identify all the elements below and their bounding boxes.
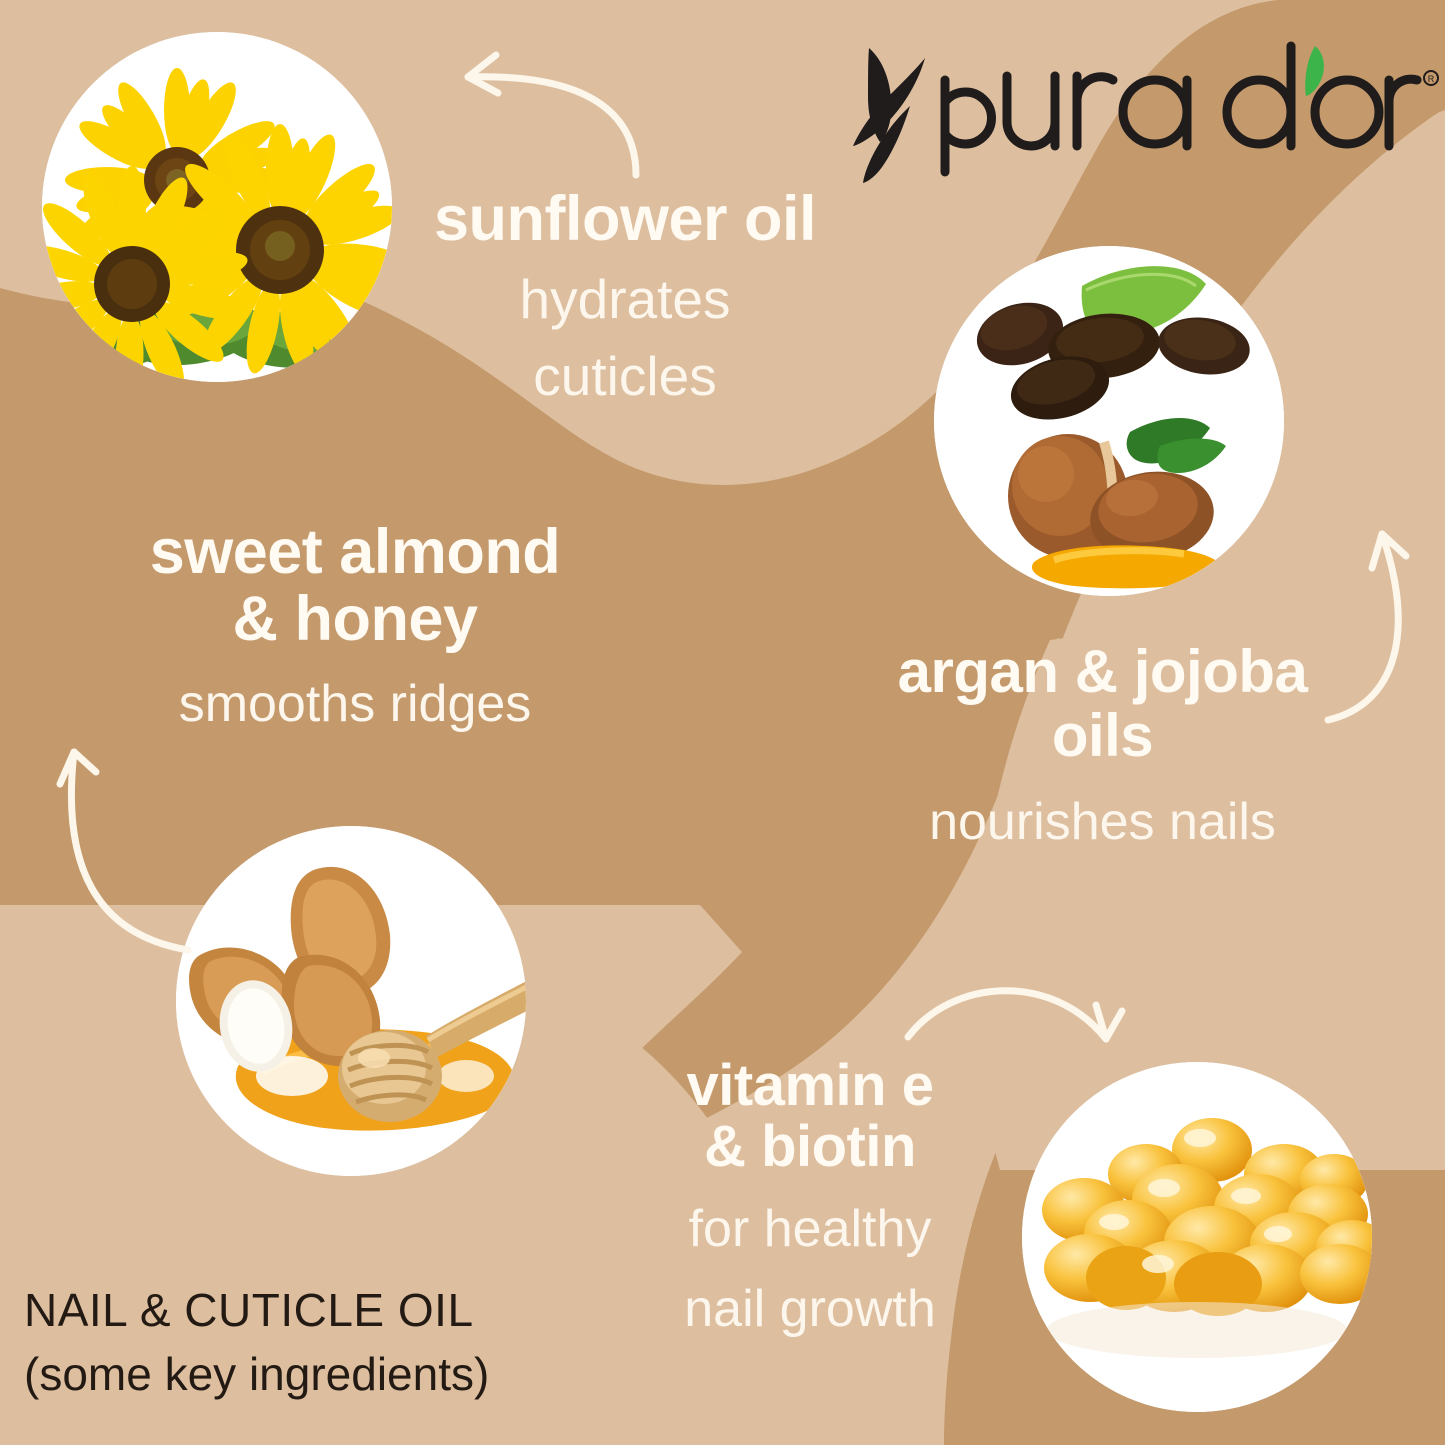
sunflower-title: sunflower oil xyxy=(330,186,920,253)
arrow-to-sunflower xyxy=(440,45,660,185)
almond-honey-benefit: smooths ridges xyxy=(55,675,655,733)
caption-line-1: NAIL & CUTICLE OIL xyxy=(24,1283,644,1337)
almond-honey-title-line-2: & honey xyxy=(55,586,655,653)
infographic-canvas: R xyxy=(0,0,1445,1445)
arrow-to-almond xyxy=(48,728,233,958)
vitamin-biotin-benefit-line-1: for healthy xyxy=(600,1200,1020,1258)
sunflower-benefit-line-1: hydrates xyxy=(330,269,920,331)
argan-jojoba-title-line-2: oils xyxy=(825,704,1380,768)
brand-logo: R xyxy=(855,40,1400,175)
sunflower-benefit-line-2: cuticles xyxy=(330,346,920,408)
ingredient-almond-honey-text: sweet almond & honey smooths ridges xyxy=(55,519,655,733)
vitamin-biotin-title-line-1: vitamin e xyxy=(600,1055,1020,1116)
caption-line-2: (some key ingredients) xyxy=(24,1347,644,1401)
vitamin-capsules-photo xyxy=(1022,1062,1372,1412)
svg-text:R: R xyxy=(1428,74,1435,84)
product-caption: NAIL & CUTICLE OIL (some key ingredients… xyxy=(24,1283,644,1402)
ingredient-sunflower-text: sunflower oil hydrates cuticles xyxy=(330,186,920,408)
ingredient-vitamin-biotin-text: vitamin e & biotin for healthy nail grow… xyxy=(600,1055,1020,1338)
almond-honey-title-line-1: sweet almond xyxy=(55,519,655,586)
argan-jojoba-benefit: nourishes nails xyxy=(825,793,1380,851)
vitamin-biotin-benefit-line-2: nail growth xyxy=(600,1280,1020,1338)
vitamin-biotin-title-line-2: & biotin xyxy=(600,1116,1020,1177)
argan-jojoba-photo xyxy=(934,246,1284,596)
argan-jojoba-title-line-1: argan & jojoba xyxy=(825,640,1380,704)
ingredient-argan-jojoba-text: argan & jojoba oils nourishes nails xyxy=(825,640,1380,851)
leaf-mark-icon xyxy=(853,48,925,183)
